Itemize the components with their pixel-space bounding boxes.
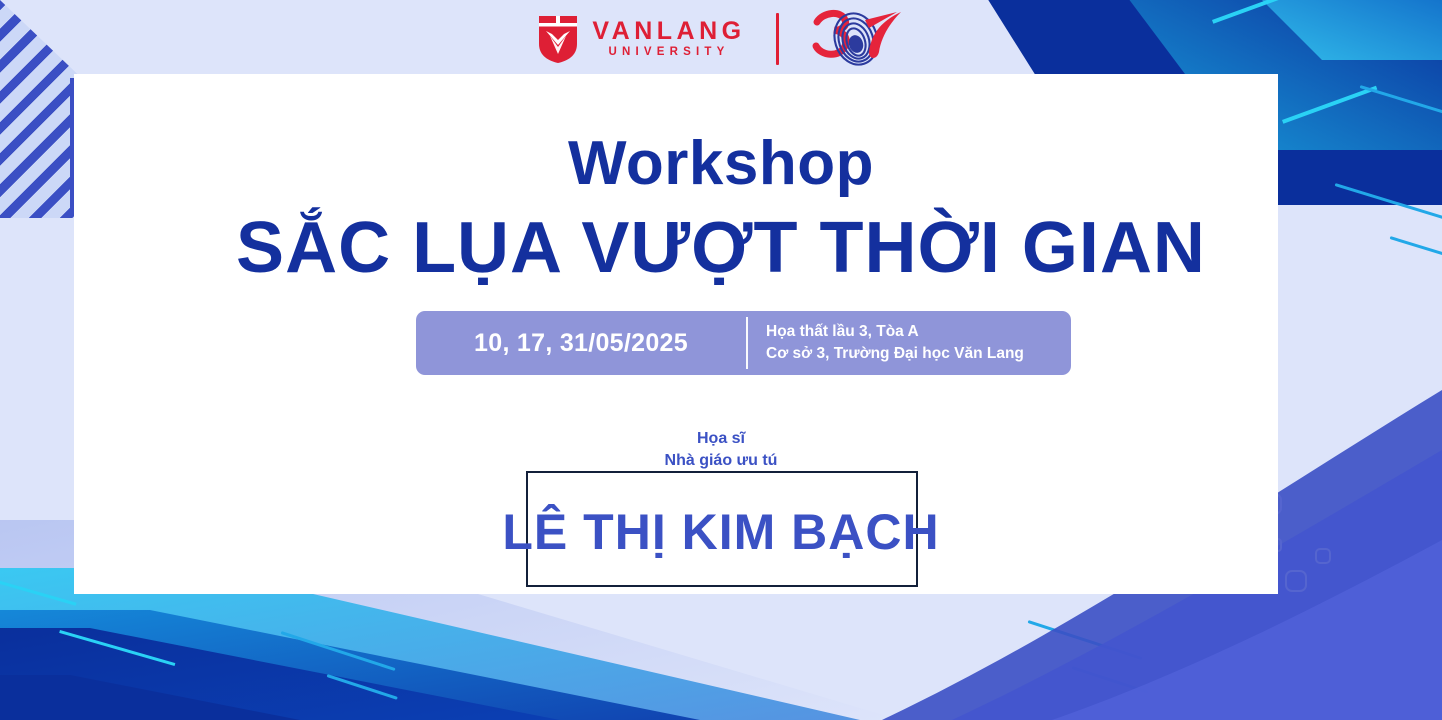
poster-canvas: VANLANG UNIVERSITY Workshop SẮC LỤA VƯỢT…	[0, 0, 1442, 720]
venue-line-1: Họa thất lầu 3, Tòa A	[766, 321, 1071, 343]
header-logos: VANLANG UNIVERSITY	[0, 8, 1442, 70]
venue-line-2: Cơ sở 3, Trường Đại học Văn Lang	[766, 343, 1071, 365]
hairline-decoration	[1028, 620, 1143, 660]
speaker-name: LÊ THỊ KIM BẠCH	[0, 503, 1442, 561]
page-title: SẮC LỤA VƯỢT THỜI GIAN	[0, 207, 1442, 289]
speaker-role-line-2: Nhà giáo ưu tú	[651, 450, 792, 472]
logo-divider	[776, 13, 779, 65]
speaker-role-line-1: Họa sĩ	[0, 428, 1442, 450]
speaker-block: Họa sĩ Nhà giáo ưu tú LÊ THỊ KIM BẠCH	[0, 428, 1442, 471]
university-subtitle: UNIVERSITY	[592, 47, 745, 59]
hairline-decoration	[1072, 666, 1149, 694]
event-venue: Họa thất lầu 3, Tòa A Cơ sở 3, Trường Đạ…	[748, 311, 1071, 375]
university-name: VANLANG	[592, 19, 745, 44]
vanlang-logo: VANLANG UNIVERSITY	[537, 14, 745, 64]
vanlang-wordmark: VANLANG UNIVERSITY	[592, 19, 745, 59]
speaker-role: Họa sĩ Nhà giáo ưu tú	[0, 428, 1442, 471]
event-info-pill: 10, 17, 31/05/2025 Họa thất lầu 3, Tòa A…	[416, 311, 1071, 375]
event-date: 10, 17, 31/05/2025	[416, 311, 746, 375]
hairline-decoration	[1360, 85, 1442, 123]
vanlang-shield-icon	[537, 14, 579, 64]
info-separator	[746, 317, 748, 369]
hairline-decoration	[327, 674, 398, 700]
anniversary-30-icon	[809, 8, 905, 70]
eyebrow-title: Workshop	[0, 128, 1442, 199]
hairline-decoration	[281, 631, 396, 671]
